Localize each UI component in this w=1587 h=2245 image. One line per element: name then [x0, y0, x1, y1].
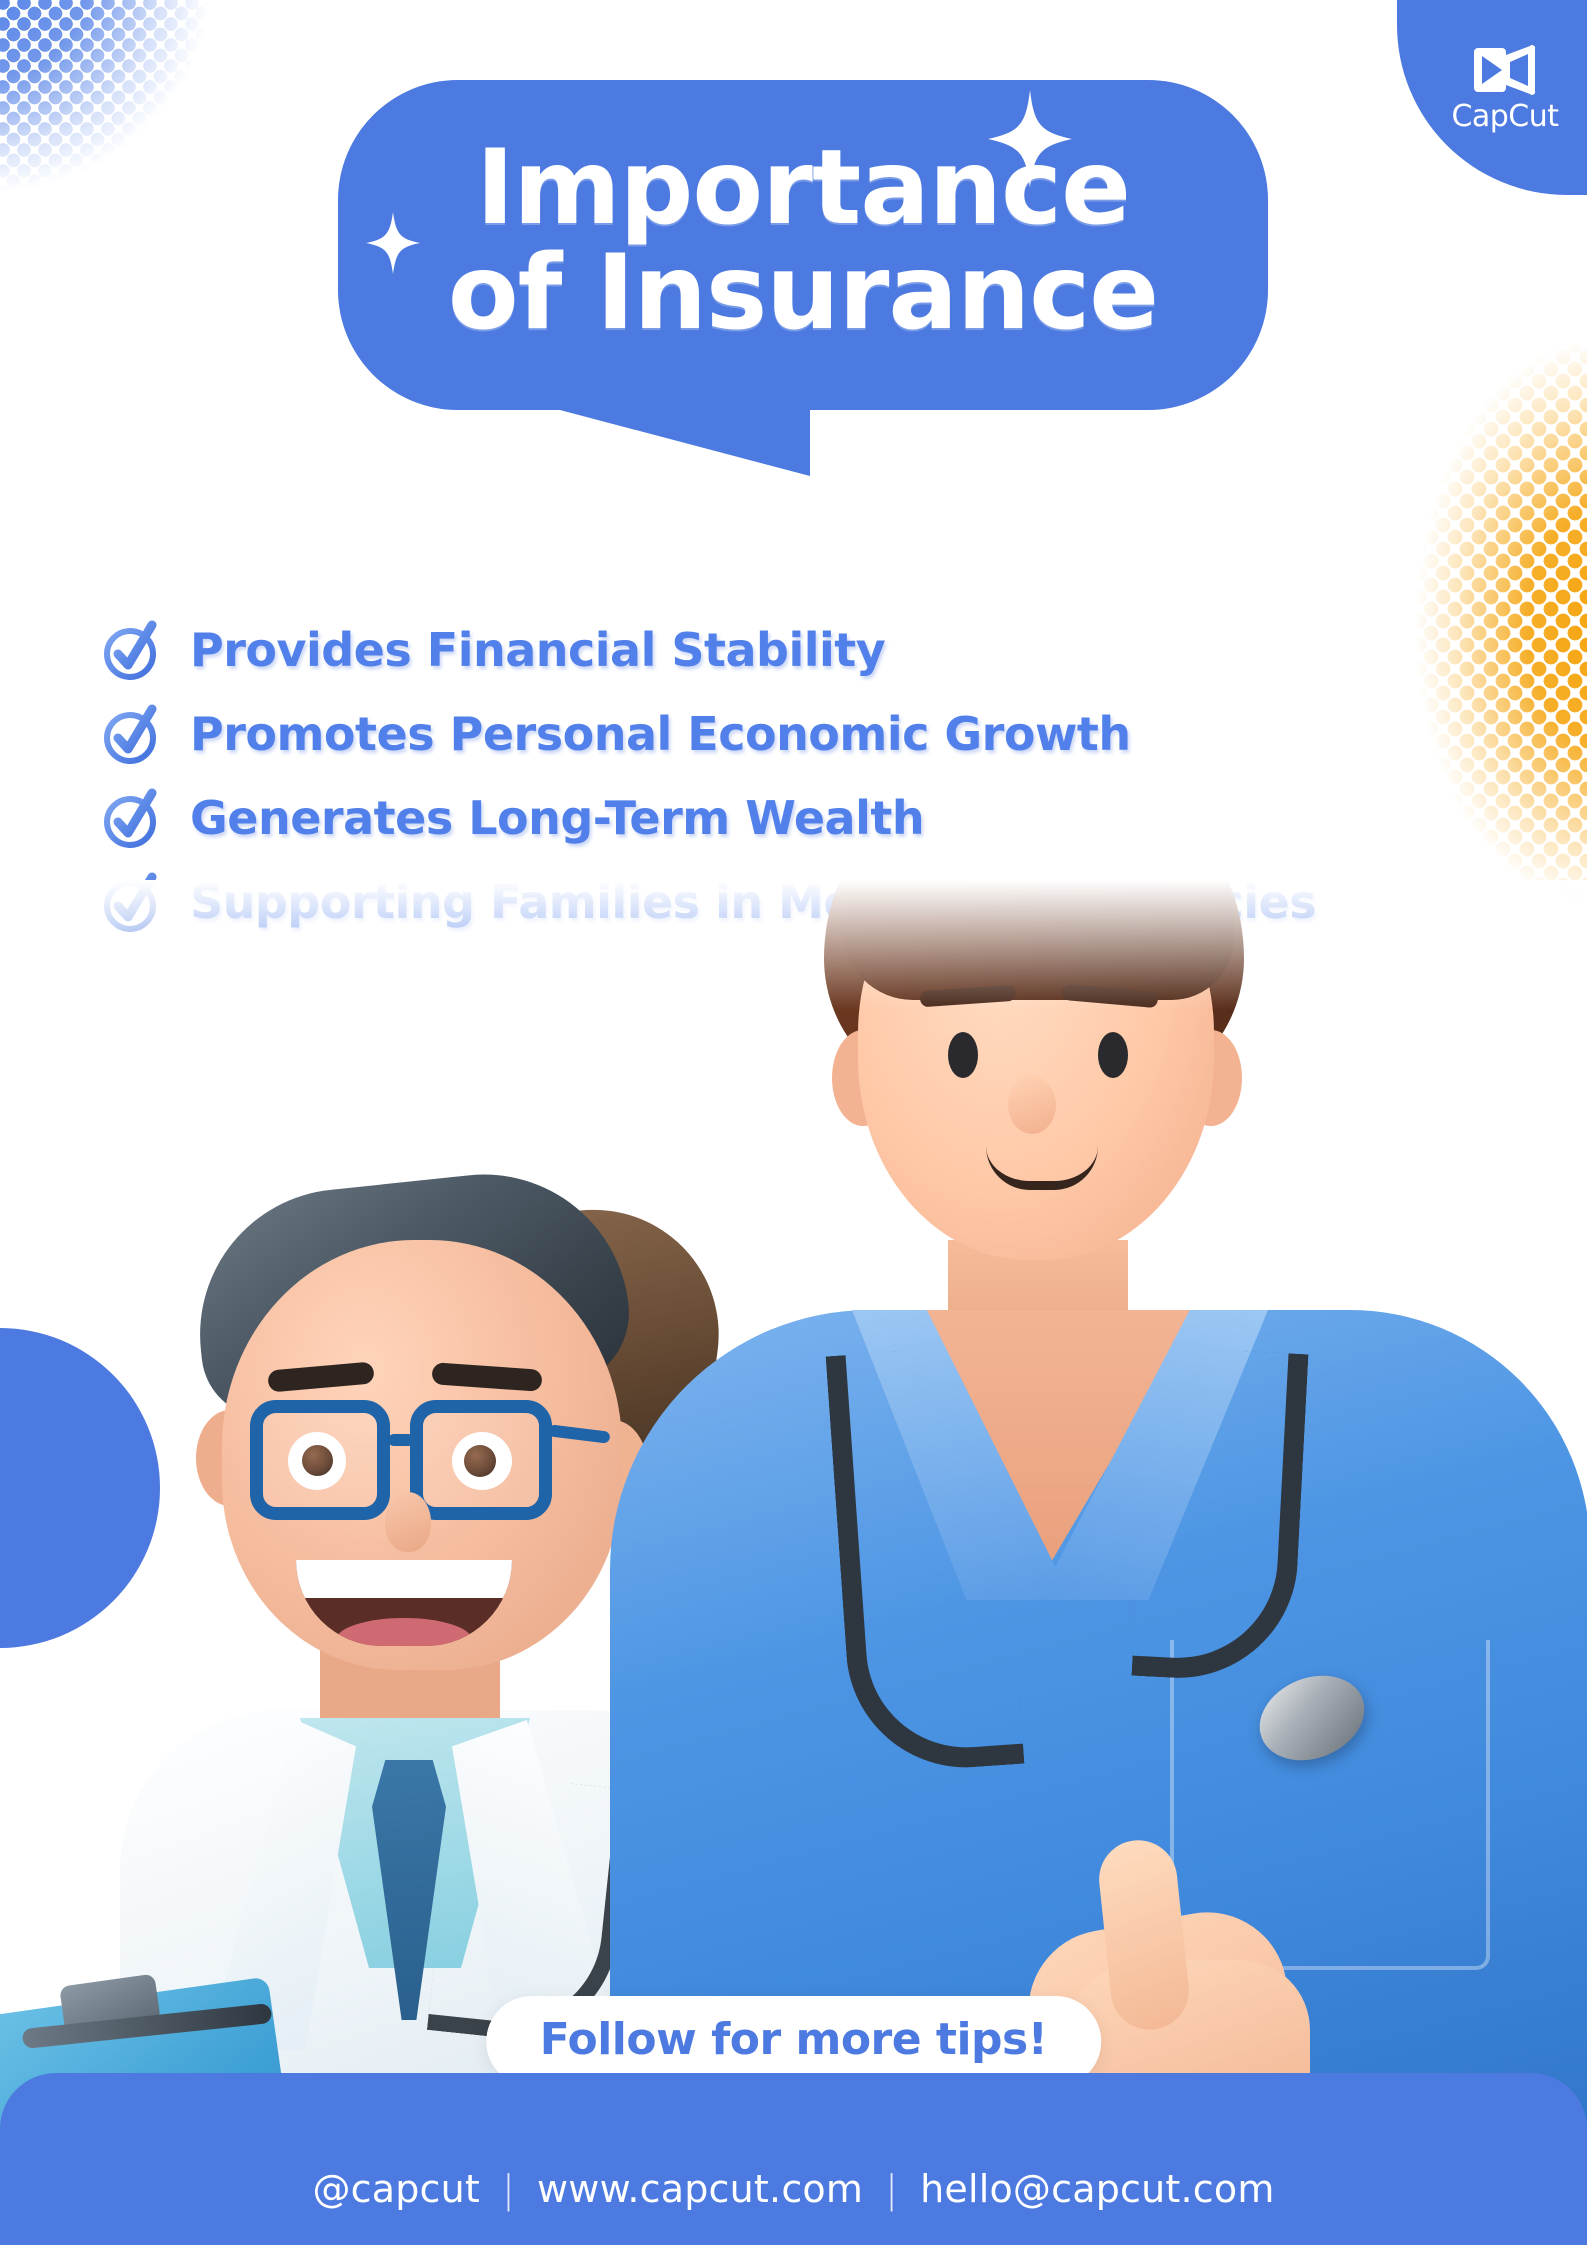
- list-item-label: Generates Long-Term Wealth: [190, 794, 924, 842]
- capcut-logo-icon: [1472, 44, 1538, 96]
- check-circle-icon: [100, 702, 164, 766]
- list-item: Promotes Personal Economic Growth: [100, 702, 1520, 766]
- hero-illustration: [0, 880, 1587, 2170]
- footer-separator-1: |: [502, 2167, 515, 2211]
- footer-bar: @capcut | www.capcut.com | hello@capcut.…: [0, 2073, 1587, 2245]
- list-item-label: Promotes Personal Economic Growth: [190, 710, 1131, 758]
- list-item: Provides Financial Stability: [100, 618, 1520, 682]
- footer-contact-row: @capcut | www.capcut.com | hello@capcut.…: [312, 2167, 1274, 2211]
- list-item: Generates Long-Term Wealth: [100, 786, 1520, 850]
- capcut-wordmark: CapCut: [1451, 99, 1558, 134]
- footer-handle[interactable]: @capcut: [312, 2167, 480, 2211]
- title-speech-bubble: Importance of Insurance: [338, 80, 1268, 410]
- check-circle-icon: [100, 618, 164, 682]
- footer-email[interactable]: hello@capcut.com: [920, 2167, 1274, 2211]
- footer-separator-2: |: [885, 2167, 898, 2211]
- capcut-brand-badge: CapCut: [1397, 0, 1587, 195]
- list-item-label: Provides Financial Stability: [190, 626, 885, 674]
- halftone-dots-top-left: [0, 0, 252, 222]
- speech-bubble-tail: [560, 410, 810, 476]
- follow-cta-label: Follow for more tips!: [540, 2014, 1048, 2065]
- page-title: Importance of Insurance: [398, 136, 1208, 346]
- footer-website[interactable]: www.capcut.com: [537, 2167, 863, 2211]
- check-circle-icon: [100, 786, 164, 850]
